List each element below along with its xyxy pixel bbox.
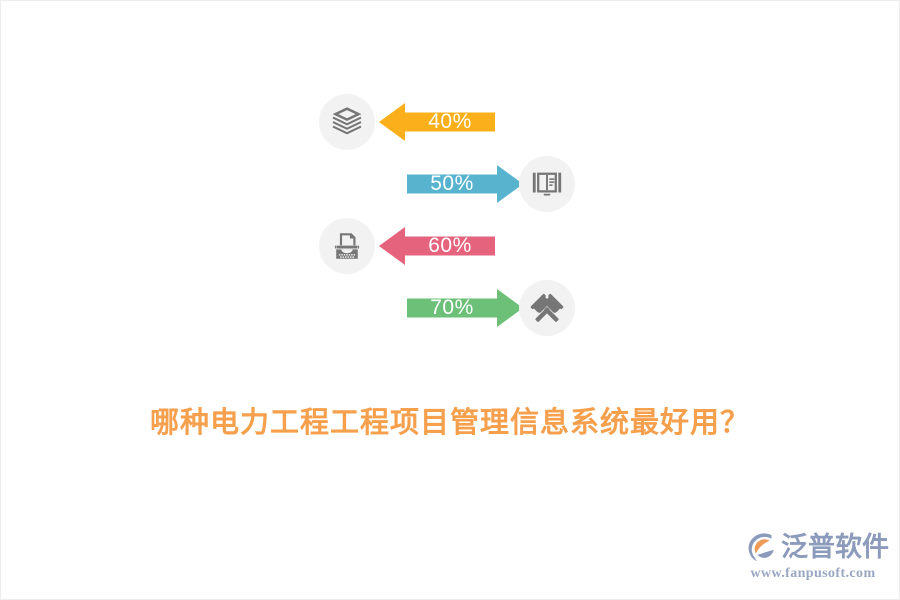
crossed-hammers-badge	[519, 280, 575, 336]
open-book-icon	[530, 167, 564, 201]
percent-label: 60%	[379, 227, 495, 265]
percent-arrow: 60%	[379, 227, 495, 265]
arrow-infographic: 40% 50%	[301, 89, 601, 359]
percent-label: 70%	[407, 289, 523, 327]
brand-watermark: 泛普软件 www.fanpusoft.com	[745, 529, 881, 587]
crossed-hammers-icon	[529, 290, 565, 326]
brand-lockup: 泛普软件	[745, 529, 881, 567]
open-book-badge	[519, 156, 575, 212]
percent-label: 50%	[407, 165, 523, 203]
infographic-row: 70%	[301, 275, 601, 341]
percent-arrow: 70%	[407, 289, 523, 327]
books-stack-icon	[329, 104, 365, 140]
fanpu-logo-icon	[745, 531, 779, 565]
poster-canvas: 40% 50%	[0, 0, 900, 600]
percent-arrow: 50%	[407, 165, 523, 203]
brand-name: 泛普软件	[781, 531, 889, 565]
brand-url: www.fanpusoft.com	[745, 566, 881, 582]
infographic-row: 40%	[301, 89, 601, 155]
percent-arrow: 40%	[379, 103, 495, 141]
page-title: 哪种电力工程工程项目管理信息系统最好用？	[1, 399, 899, 441]
infographic-row: 60%	[301, 213, 601, 279]
infographic-row: 50%	[301, 151, 601, 217]
percent-label: 40%	[379, 103, 495, 141]
typewriter-badge	[319, 218, 375, 274]
books-stack-badge	[319, 94, 375, 150]
typewriter-icon	[330, 229, 364, 263]
